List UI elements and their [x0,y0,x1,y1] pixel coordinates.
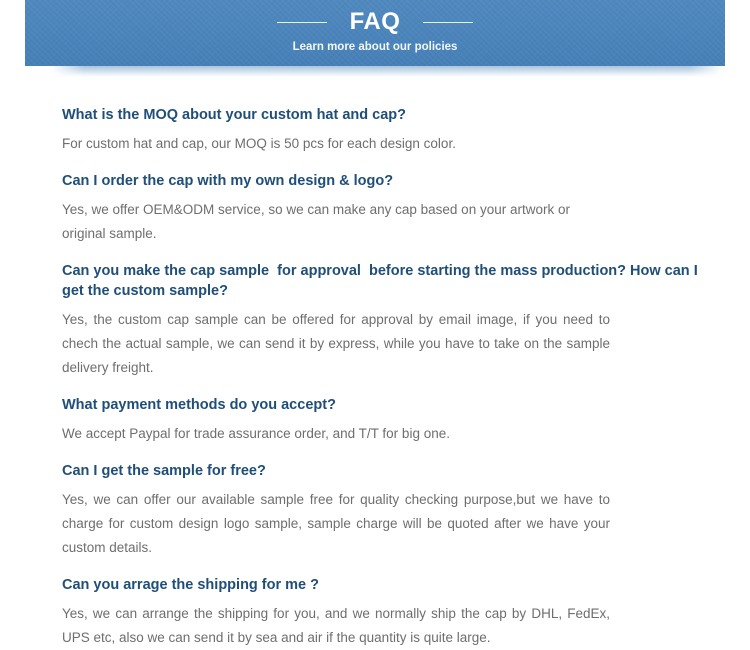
faq-question: Can you arrage the shipping for me ? [62,575,710,595]
faq-banner-background: FAQ Learn more about our policies [25,0,725,66]
faq-answer: Yes, we offer OEM&ODM service, so we can… [62,198,610,246]
faq-answer: We accept Paypal for trade assurance ord… [62,422,622,446]
faq-answer: Yes, the custom cap sample can be offere… [62,308,610,380]
faq-item: What payment methods do you accept? We a… [62,395,710,446]
faq-banner-content: FAQ Learn more about our policies [25,0,725,66]
faq-question: What payment methods do you accept? [62,395,710,415]
faq-item: Can you make the cap sample for approval… [62,261,710,380]
banner-drop-shadow [51,66,723,77]
faq-answer: For custom hat and cap, our MOQ is 50 pc… [62,132,622,156]
faq-banner: FAQ Learn more about our policies [25,0,725,77]
faq-question: What is the MOQ about your custom hat an… [62,105,710,125]
decorative-rule-left-icon [277,22,327,23]
faq-item: Can I get the sample for free? Yes, we c… [62,461,710,560]
faq-item: Can I order the cap with my own design &… [62,171,710,246]
decorative-rule-right-icon [423,22,473,23]
faq-item: Can you arrage the shipping for me ? Yes… [62,575,710,650]
page-subtitle: Learn more about our policies [293,40,458,54]
faq-banner-title-row: FAQ [277,9,474,35]
faq-answer: Yes, we can offer our available sample f… [62,488,610,560]
faq-question: Can I order the cap with my own design &… [62,171,710,191]
page-title: FAQ [350,9,401,35]
faq-answer: Yes, we can arrange the shipping for you… [62,602,610,650]
faq-item: What is the MOQ about your custom hat an… [62,105,710,156]
faq-question: Can I get the sample for free? [62,461,710,481]
faq-list: What is the MOQ about your custom hat an… [62,105,710,650]
faq-question: Can you make the cap sample for approval… [62,261,710,301]
